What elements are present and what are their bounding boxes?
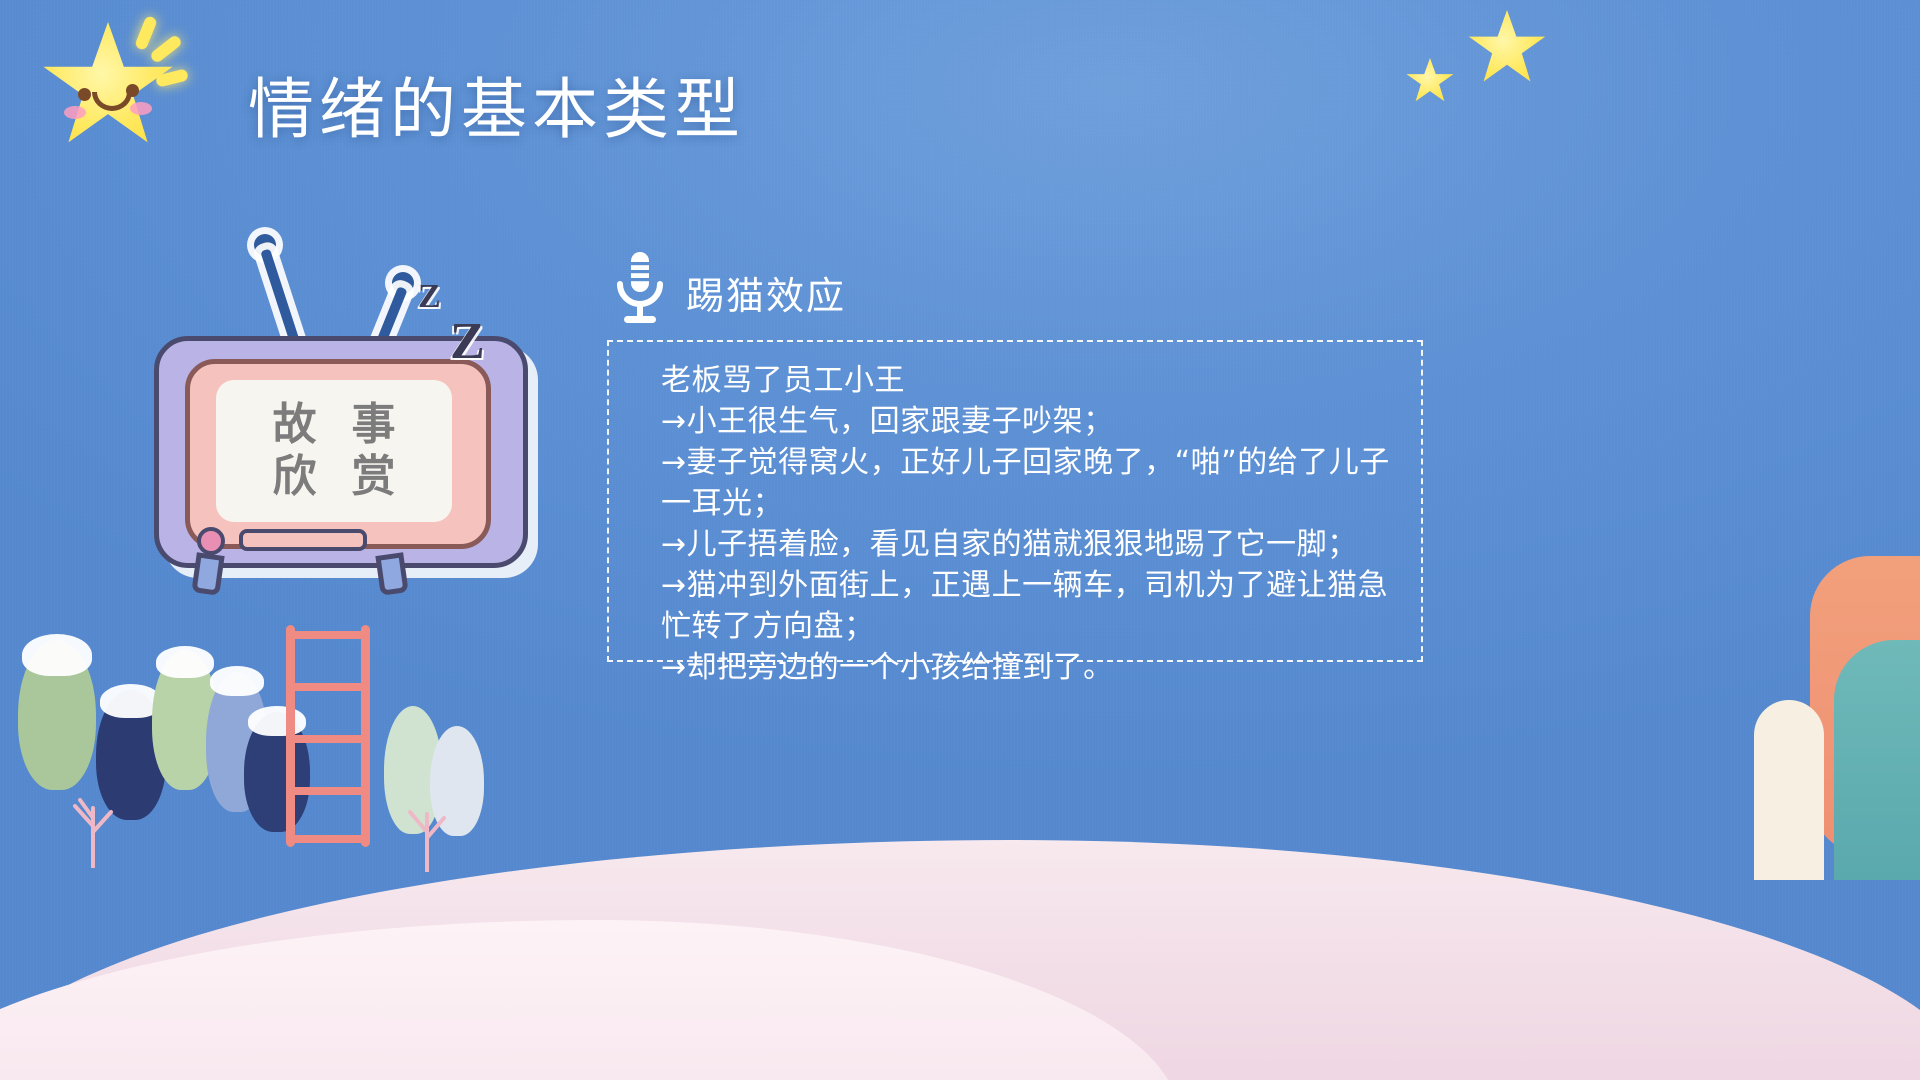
tv-screen: 故 事 欣 赏 xyxy=(216,380,452,522)
tv-speaker-slot xyxy=(239,529,367,551)
slide-canvas: 情绪的基本类型 故 事 欣 赏 Z Z xyxy=(0,0,1920,1080)
tv-sleep-z-small: Z xyxy=(418,278,441,316)
tv-knob xyxy=(197,527,225,555)
section-heading: 踢猫效应 xyxy=(686,265,846,320)
tv-bezel: 故 事 欣 赏 xyxy=(185,359,491,549)
star-top-right-small xyxy=(1406,58,1454,104)
snow-cap-4 xyxy=(210,666,264,696)
story-line: 老板骂了员工小王 xyxy=(661,360,1413,401)
story-line: →妻子觉得窝火，正好儿子回家晚了，“啪”的给了儿子一耳光； xyxy=(661,442,1413,524)
microphone-icon xyxy=(612,250,668,326)
bare-tree-1 xyxy=(66,788,120,873)
right-cream-blob xyxy=(1754,700,1824,880)
snow-cap-3 xyxy=(156,646,214,678)
snow-cap-1 xyxy=(22,634,92,676)
star-top-left xyxy=(42,22,174,150)
story-text-content: 老板骂了员工小王 →小王很生气，回家跟妻子吵架； →妻子觉得窝火，正好儿子回家晚… xyxy=(661,360,1413,688)
star-face xyxy=(42,22,174,150)
tv-leg-right xyxy=(375,552,408,596)
story-line: →却把旁边的一个小孩给撞到了。 xyxy=(661,647,1413,688)
page-title: 情绪的基本类型 xyxy=(248,56,745,152)
tv-illustration: 故 事 欣 赏 Z Z xyxy=(150,232,570,632)
right-teal-blob xyxy=(1834,640,1920,880)
tv-leg-left xyxy=(191,552,224,596)
story-line: →猫冲到外面街上，正遇上一辆车，司机为了避让猫急忙转了方向盘； xyxy=(661,565,1413,647)
tv-sleep-z-large: Z xyxy=(450,312,485,371)
story-line: →儿子捂着脸，看见自家的猫就狠狠地踢了它一脚； xyxy=(661,524,1413,565)
ladder-graphic xyxy=(286,625,370,847)
story-text-box: 老板骂了员工小王 →小王很生气，回家跟妻子吵架； →妻子觉得窝火，正好儿子回家晚… xyxy=(607,340,1423,662)
story-line: →小王很生气，回家跟妻子吵架； xyxy=(661,401,1413,442)
tv-screen-line-1: 故 事 xyxy=(261,399,408,451)
tv-screen-line-2: 欣 赏 xyxy=(261,451,408,503)
bare-tree-2 xyxy=(400,796,454,877)
star-top-right-large xyxy=(1468,10,1546,86)
